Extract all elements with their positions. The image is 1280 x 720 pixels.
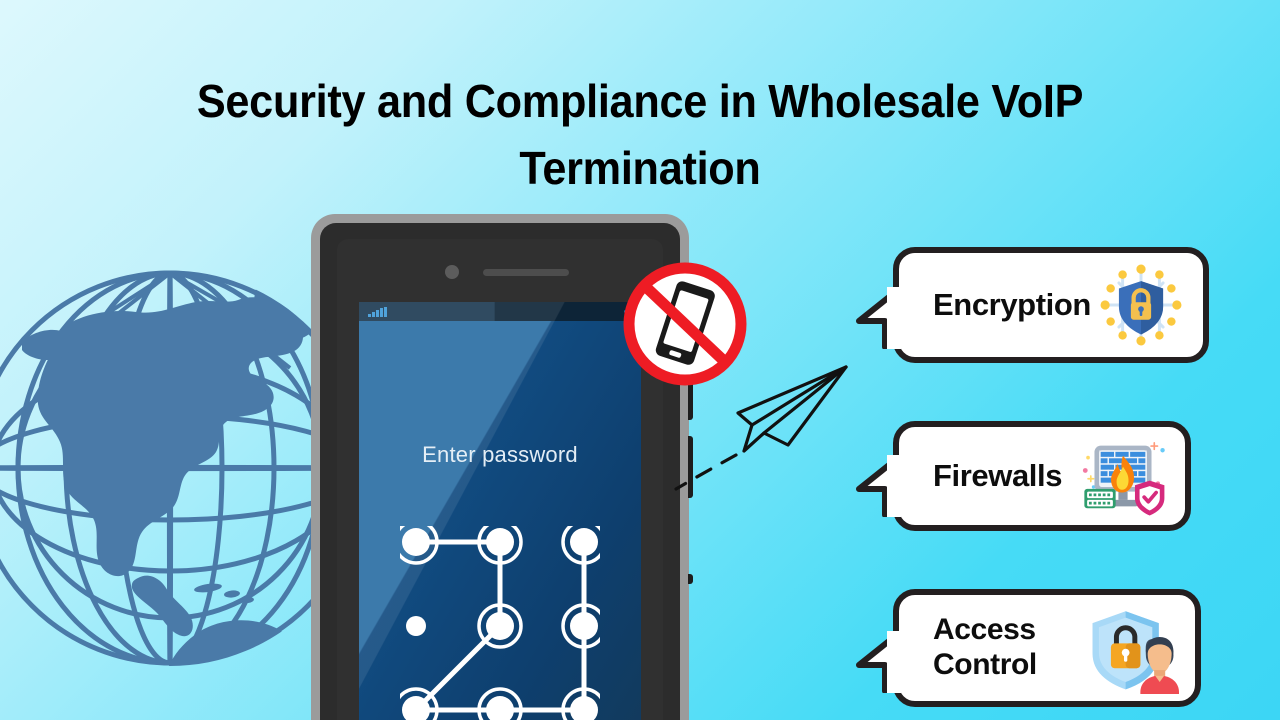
phone-screen: Enter password bbox=[359, 302, 641, 720]
front-camera-icon bbox=[445, 265, 459, 279]
bubble-firewalls[interactable]: Firewalls bbox=[893, 421, 1191, 531]
earpiece-speaker-icon bbox=[483, 269, 569, 276]
bubble-tail-encryption bbox=[841, 287, 901, 349]
phone-inner-bezel: Enter password bbox=[337, 239, 663, 720]
pattern-lock-grid[interactable] bbox=[400, 526, 600, 720]
shield-lock-network-icon bbox=[1095, 259, 1187, 351]
bubble-encryption[interactable]: Encryption bbox=[893, 247, 1209, 363]
phone-status-bar bbox=[359, 302, 641, 321]
phone-power-button[interactable] bbox=[688, 574, 693, 584]
signal-strength-icon bbox=[368, 307, 387, 317]
shield-lock-user-icon bbox=[1087, 602, 1179, 694]
bubble-label-encryption: Encryption bbox=[933, 287, 1095, 323]
firewall-monitor-flame-icon bbox=[1077, 430, 1169, 522]
infographic-canvas: Security and Compliance in Wholesale VoI… bbox=[0, 0, 1280, 720]
page-title: Security and Compliance in Wholesale VoI… bbox=[123, 68, 1157, 201]
bubble-label-firewalls: Firewalls bbox=[933, 458, 1077, 494]
bubble-tail-access-control bbox=[841, 631, 901, 693]
paper-plane-arrow bbox=[660, 355, 850, 495]
enter-password-label: Enter password bbox=[359, 442, 641, 468]
bubble-access-control[interactable]: Access Control bbox=[893, 589, 1201, 707]
bubble-tail-firewalls bbox=[841, 455, 901, 517]
bubble-label-access-control: Access Control bbox=[933, 613, 1087, 683]
